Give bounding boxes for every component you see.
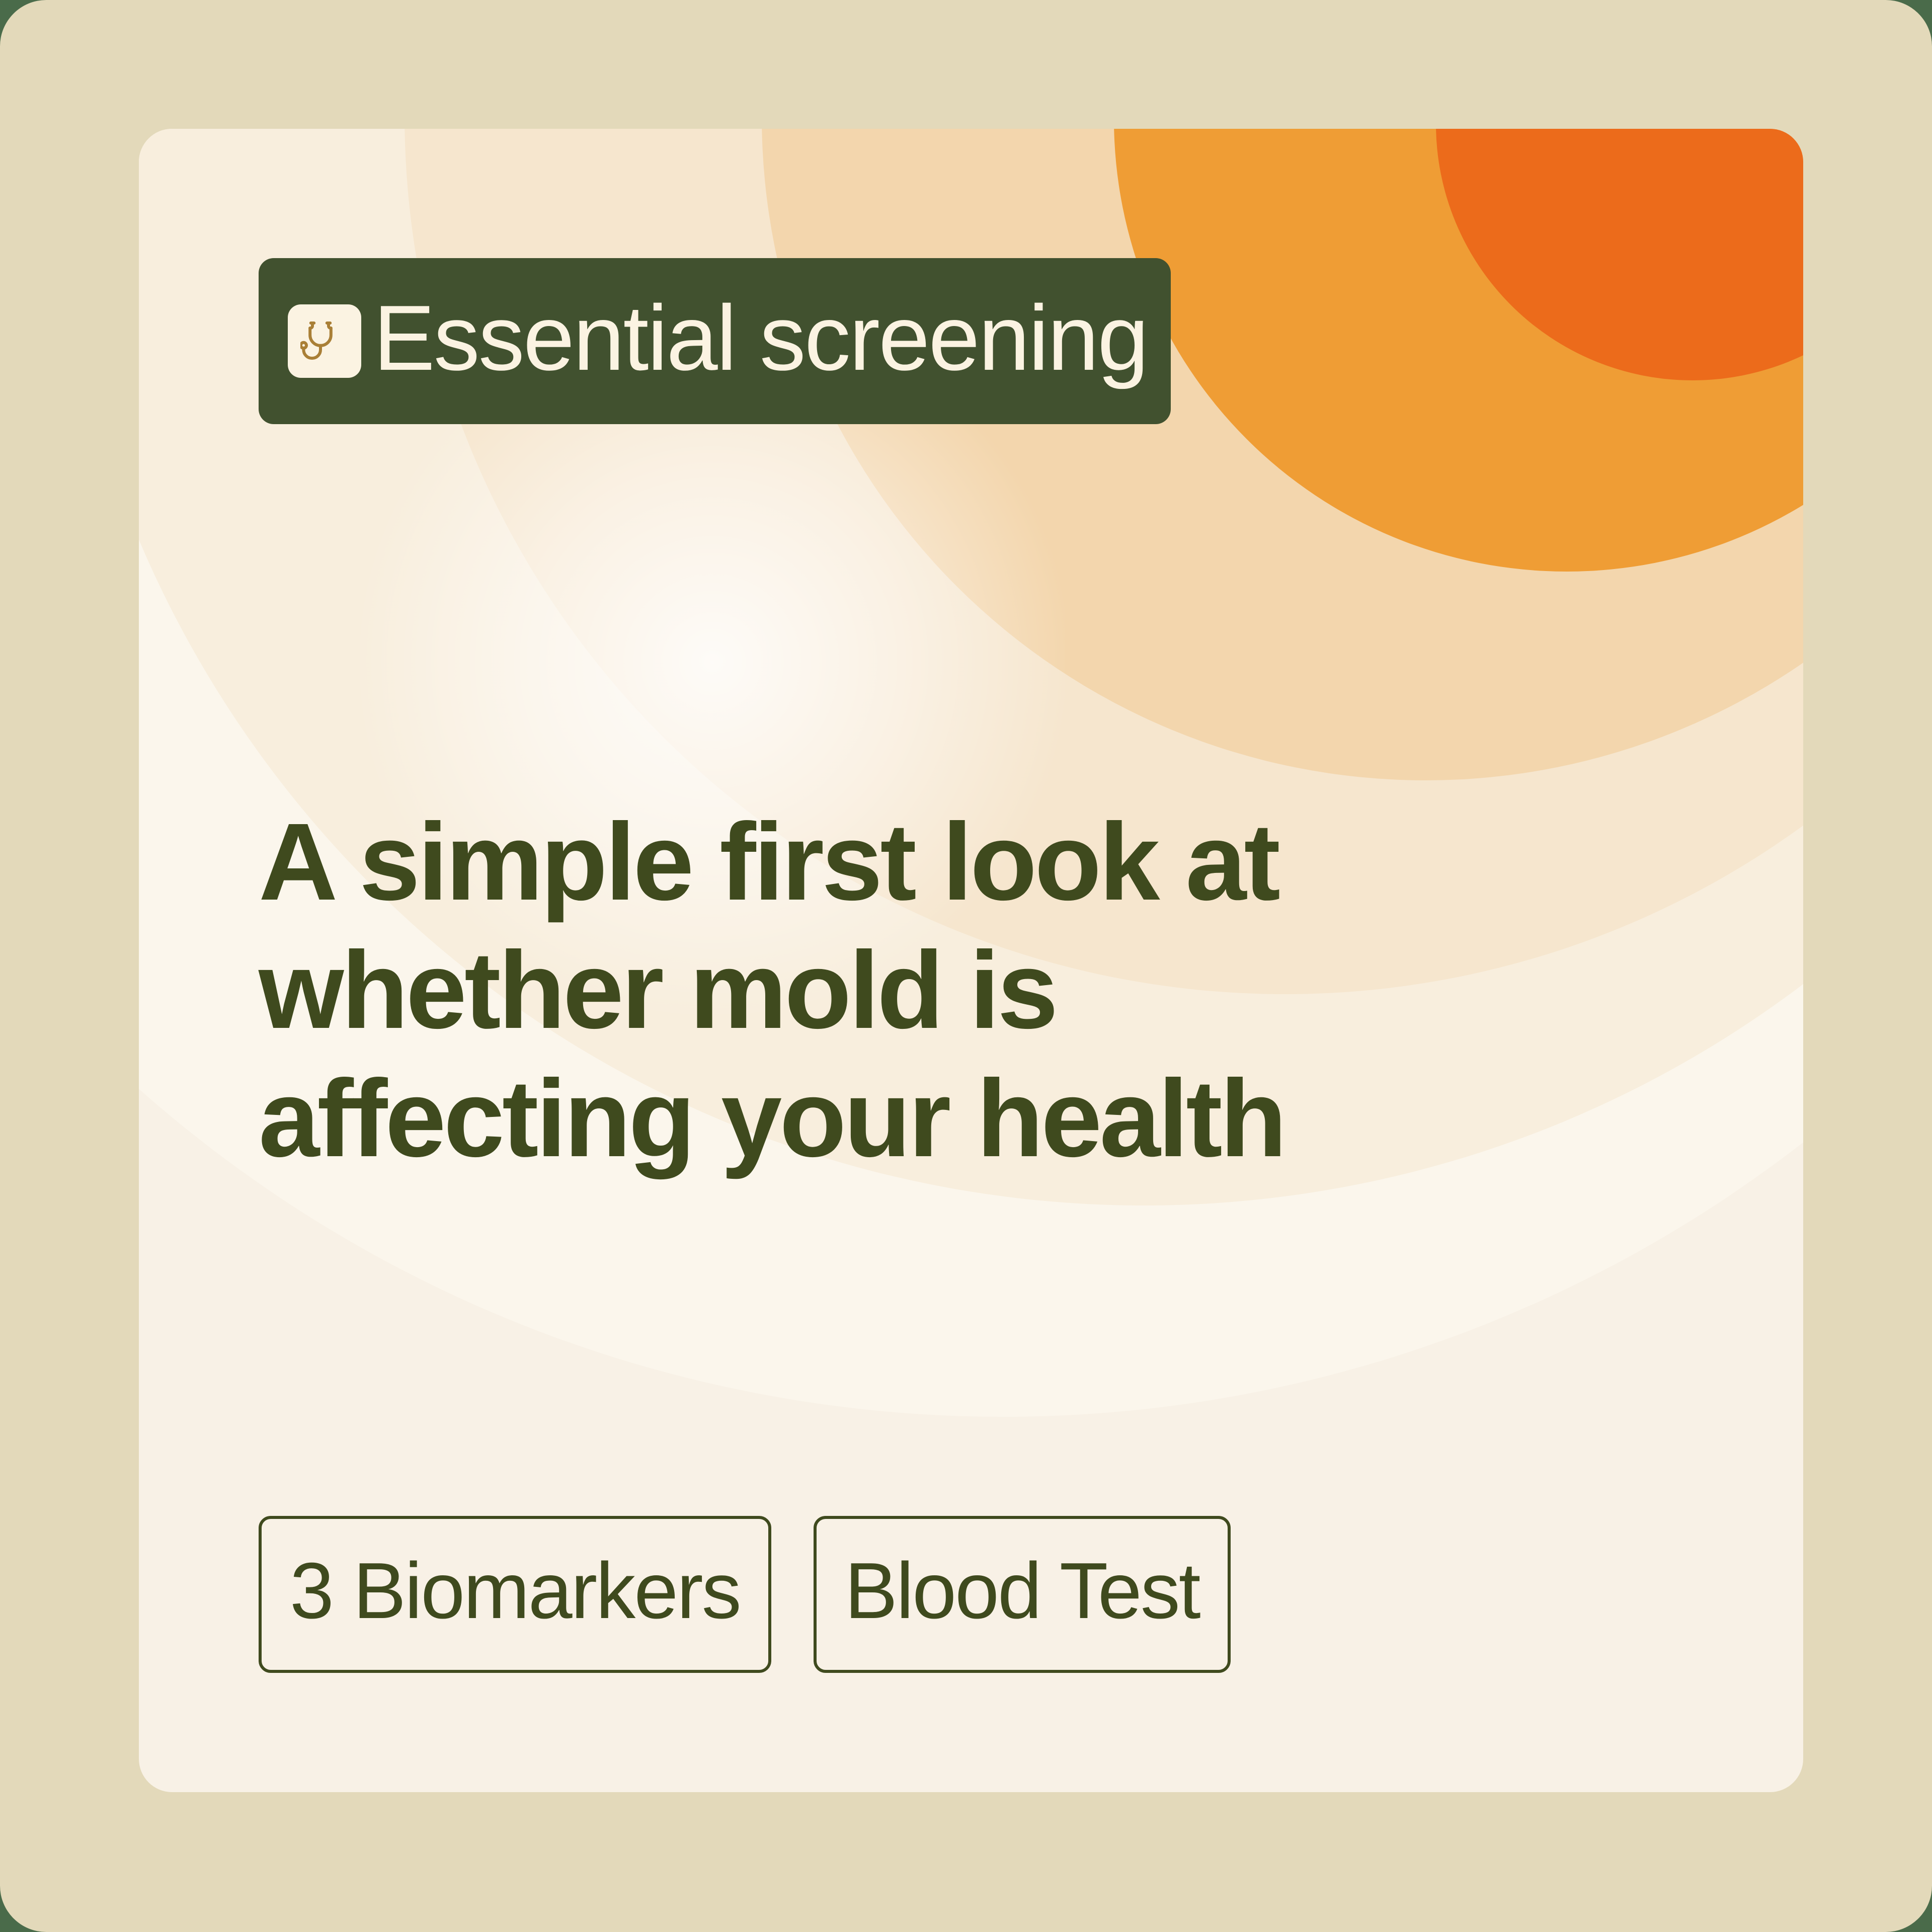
headline-line-3: affecting your health [259, 1055, 1516, 1183]
outer-frame: Essential screening A simple first look … [0, 0, 1932, 1932]
promo-card: Essential screening A simple first look … [139, 129, 1803, 1792]
tag-biomarkers[interactable]: 3 Biomarkers [259, 1516, 771, 1673]
headline-line-1: A simple first look at [259, 798, 1516, 926]
eyebrow-badge: Essential screening [259, 258, 1171, 424]
page-title: A simple first look at whether mold is a… [259, 798, 1516, 1183]
tag-blood-test-label: Blood Test [845, 1551, 1199, 1638]
card-content: Essential screening A simple first look … [139, 129, 1803, 1792]
headline-line-2: whether mold is [259, 926, 1516, 1055]
tag-row: 3 Biomarkers Blood Test [259, 1516, 1231, 1673]
tag-biomarkers-label: 3 Biomarkers [290, 1551, 740, 1638]
tag-blood-test[interactable]: Blood Test [814, 1516, 1231, 1673]
eyebrow-label: Essential screening [373, 291, 1148, 391]
stethoscope-icon [288, 304, 361, 378]
